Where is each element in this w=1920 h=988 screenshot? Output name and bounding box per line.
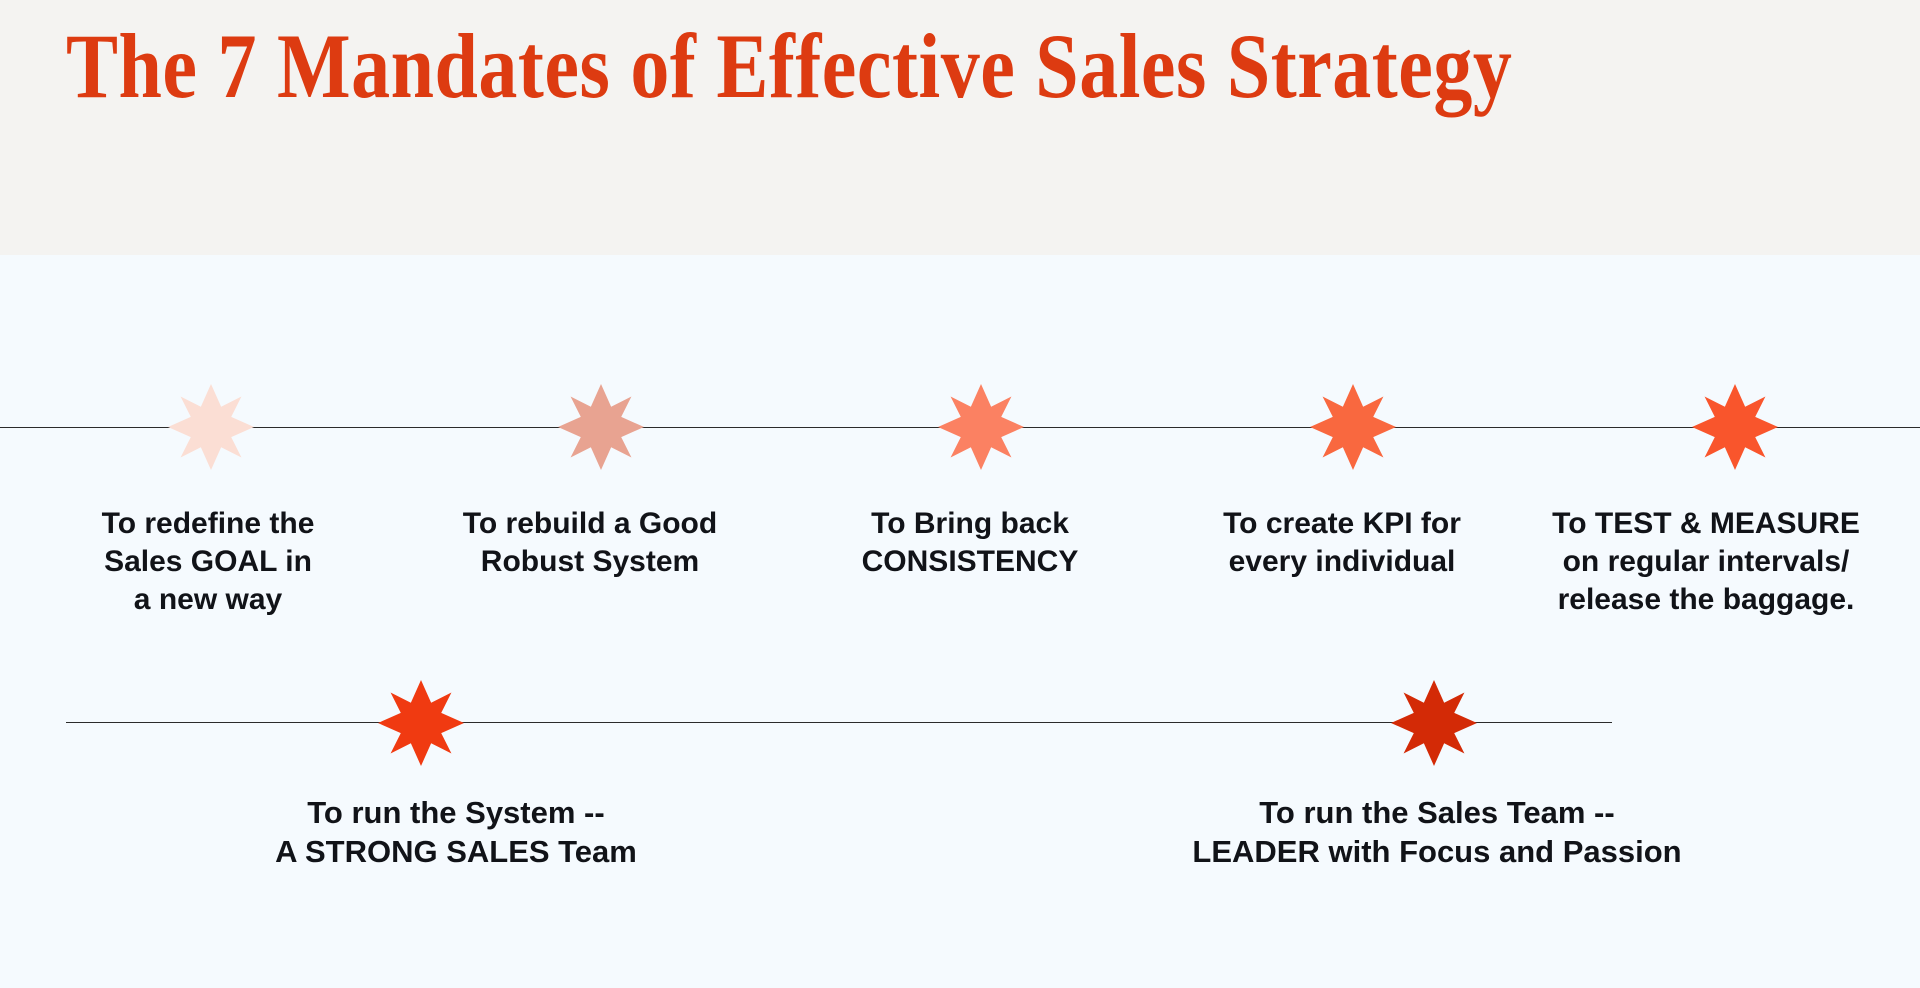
timeline-rail-bottom bbox=[66, 722, 1612, 723]
milestone-star-2 bbox=[558, 384, 644, 470]
milestone-label-1: To redefine the Sales GOAL in a new way bbox=[63, 505, 353, 618]
milestone-label-2: To rebuild a Good Robust System bbox=[425, 505, 755, 581]
milestone-star-6 bbox=[378, 680, 464, 766]
milestone-star-7 bbox=[1391, 680, 1477, 766]
milestone-star-1 bbox=[168, 384, 254, 470]
milestone-star-4 bbox=[1310, 384, 1396, 470]
milestone-label-3: To Bring back CONSISTENCY bbox=[805, 505, 1135, 581]
milestone-star-3 bbox=[938, 384, 1024, 470]
milestone-label-5: To TEST & MEASURE on regular intervals/ … bbox=[1512, 505, 1900, 618]
slide-canvas: The 7 Mandates of Effective Sales Strate… bbox=[0, 0, 1920, 988]
milestone-label-4: To create KPI for every individual bbox=[1177, 505, 1507, 581]
milestone-label-6: To run the System -- A STRONG SALES Team bbox=[226, 793, 686, 871]
page-title: The 7 Mandates of Effective Sales Strate… bbox=[66, 18, 1512, 115]
milestone-label-7: To run the Sales Team -- LEADER with Foc… bbox=[1147, 793, 1727, 871]
milestone-star-5 bbox=[1692, 384, 1778, 470]
